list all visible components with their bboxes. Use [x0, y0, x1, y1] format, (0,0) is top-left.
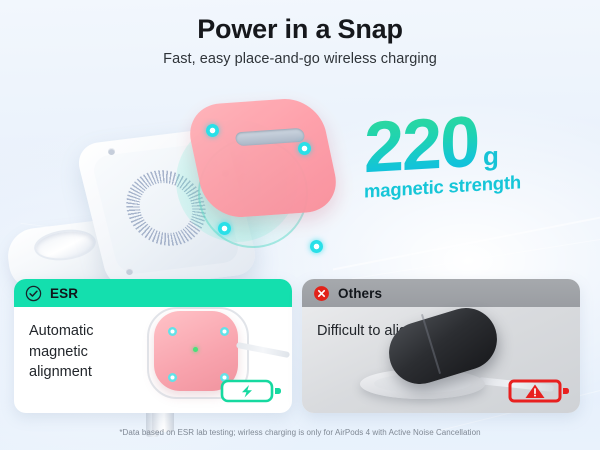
comparison-cards: ESR Automatic magnetic alignment [14, 279, 586, 413]
magnet-dot-icon [168, 327, 177, 336]
page-title: Power in a Snap [0, 14, 600, 44]
esr-card-header: ESR [14, 279, 292, 307]
esr-card-text: Automatic magnetic alignment [29, 321, 149, 383]
x-circle-icon [313, 285, 330, 302]
others-card-label: Others [338, 286, 382, 301]
product-marketing-banner: Power in a Snap Fast, easy place-and-go … [0, 0, 600, 450]
comparison-card-esr: ESR Automatic magnetic alignment [14, 279, 292, 413]
pink-airpods-case [183, 97, 342, 220]
background-light-streak [333, 207, 600, 270]
battery-charging-icon [220, 377, 282, 405]
magnet-dot-icon [298, 142, 311, 155]
battery-warning-icon [508, 377, 570, 405]
magnet-dot-icon [220, 327, 229, 336]
screw-icon [108, 148, 115, 155]
esr-card-body: Automatic magnetic alignment [14, 307, 292, 413]
magnet-dot-icon [206, 124, 219, 137]
check-circle-icon [25, 285, 42, 302]
charging-led-indicator [193, 347, 198, 352]
esr-card-label: ESR [50, 286, 78, 301]
comparison-card-others: Others Difficult to align [302, 279, 580, 413]
others-card-body: Difficult to align [302, 307, 580, 413]
magnetic-strength-value: 220 [364, 109, 478, 182]
footnote-disclaimer: *Data based on ESR lab testing; wirless … [0, 428, 600, 437]
others-card-header: Others [302, 279, 580, 307]
header-block: Power in a Snap Fast, easy place-and-go … [0, 14, 600, 67]
magnet-dot-icon [168, 373, 177, 382]
magnetic-strength-unit: g [483, 143, 499, 170]
magnet-dot-icon [218, 222, 231, 235]
magnetic-strength-stat: 220g magnetic strength [364, 112, 594, 198]
background-light-streak [352, 238, 600, 280]
page-subtitle: Fast, easy place-and-go wireless chargin… [0, 51, 600, 67]
screw-icon [126, 268, 133, 275]
magnet-dot-icon [310, 240, 323, 253]
